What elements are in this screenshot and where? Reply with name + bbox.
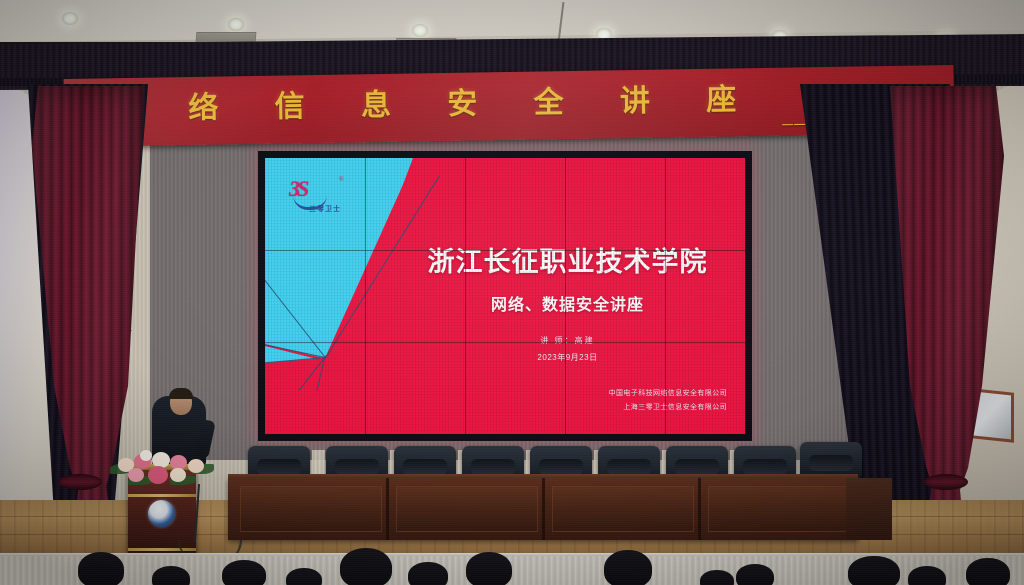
table-panel xyxy=(396,486,538,532)
flower-petal xyxy=(188,459,204,473)
slide-speaker-line: 讲 师：高建 xyxy=(395,335,740,346)
table-divider xyxy=(698,478,701,540)
table-divider xyxy=(542,478,545,540)
curtain-tieback-left xyxy=(58,474,102,490)
downlight xyxy=(62,12,78,25)
slide-org-line-2: 上海三零卫士信息安全有限公司 xyxy=(623,402,727,412)
audience-head xyxy=(604,550,652,585)
company-logo: 3S ® 三零卫士 xyxy=(289,176,349,218)
speaker-hair xyxy=(169,388,193,399)
auditorium-photo: 网 络 信 息 安 全 讲 座 —— 计算机与信息技术学院 3S ® 三零卫士 … xyxy=(0,0,1024,585)
audience-head xyxy=(152,566,190,585)
led-module-seam xyxy=(265,250,745,251)
side-cabinet xyxy=(846,478,892,540)
table-divider xyxy=(386,478,389,540)
downlight xyxy=(228,18,244,31)
audience-head xyxy=(466,552,512,585)
flower-petal xyxy=(128,468,144,482)
led-module-seam xyxy=(365,158,366,434)
downlight xyxy=(412,24,428,37)
slide-title: 浙江长征职业技术学院 xyxy=(395,240,740,279)
table-panel xyxy=(552,486,694,532)
led-screen: 3S ® 三零卫士 浙江长征职业技术学院 网络、数据安全讲座 讲 师：高建 20… xyxy=(265,158,745,434)
conference-table xyxy=(228,478,858,540)
podium-crest-icon xyxy=(148,500,175,527)
audience-head xyxy=(848,556,900,585)
led-module-seam xyxy=(665,158,666,434)
led-module-seam xyxy=(265,342,745,343)
slide-subtitle: 网络、数据安全讲座 xyxy=(395,291,740,315)
audience-head xyxy=(286,568,322,585)
podium-trim xyxy=(128,494,196,497)
table-panel xyxy=(708,486,848,532)
logo-registered-icon: ® xyxy=(339,177,343,183)
audience-head xyxy=(408,562,448,585)
table-panel xyxy=(240,486,382,532)
audience-head xyxy=(340,548,392,585)
banner-title: 网 络 信 息 安 全 讲 座 xyxy=(102,74,761,128)
flower-arrangement xyxy=(108,448,216,486)
audience-head xyxy=(78,552,124,585)
ceiling-vent xyxy=(196,32,257,43)
stage-chair xyxy=(800,442,862,478)
flower-petal xyxy=(148,466,168,484)
curtain-tieback-right xyxy=(924,474,968,490)
slide-org-line-1: 中国电子科技网络信息安全有限公司 xyxy=(609,388,727,398)
audience-head xyxy=(222,560,266,585)
audience-head xyxy=(908,566,946,585)
audience-head xyxy=(966,558,1010,585)
led-module-seam xyxy=(565,158,566,434)
flower-petal xyxy=(170,468,186,482)
slide-date-line: 2023年9月23日 xyxy=(395,352,740,363)
logo-wordmark: 三零卫士 xyxy=(309,204,341,214)
audience-head xyxy=(736,564,774,585)
audience-head xyxy=(700,570,734,585)
led-module-seam xyxy=(465,158,466,434)
flower-petal xyxy=(140,450,152,461)
